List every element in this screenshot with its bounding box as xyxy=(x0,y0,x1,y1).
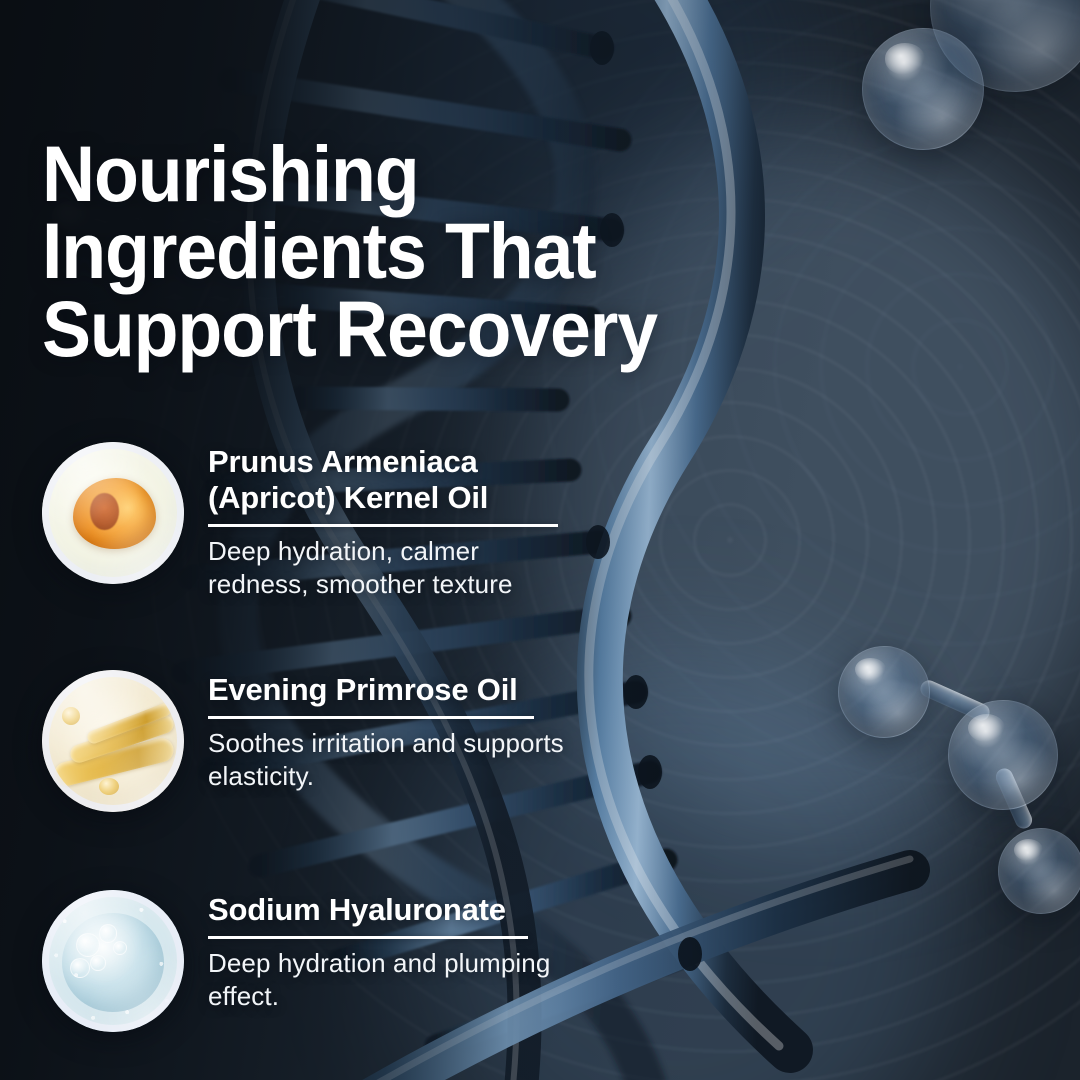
ingredient-copy: Evening Primrose Oil Soothes irritation … xyxy=(208,670,568,793)
ingredient-description: Deep hydration, calmer redness, smoother… xyxy=(208,535,568,602)
divider-rule xyxy=(208,716,534,719)
ingredient-name: Prunus Armeniaca (Apricot) Kernel Oil xyxy=(208,444,568,516)
ingredient-copy: Sodium Hyaluronate Deep hydration and pl… xyxy=(208,890,568,1013)
blue-gel-bubbles-icon xyxy=(42,890,184,1032)
ingredient-list: Prunus Armeniaca (Apricot) Kernel Oil De… xyxy=(0,0,1080,1080)
golden-oil-swirl-icon xyxy=(42,670,184,812)
divider-rule xyxy=(208,524,558,527)
list-item: Evening Primrose Oil Soothes irritation … xyxy=(42,670,568,812)
oil-droplet-shape xyxy=(62,707,80,725)
apricot-pit-shape xyxy=(90,493,118,530)
gel-speckle-texture xyxy=(42,890,184,1032)
list-item: Prunus Armeniaca (Apricot) Kernel Oil De… xyxy=(42,442,568,601)
ingredient-description: Soothes irritation and supports elastici… xyxy=(208,727,568,794)
ingredients-infographic: Nourishing Ingredients That Support Reco… xyxy=(0,0,1080,1080)
ingredient-name: Evening Primrose Oil xyxy=(208,672,568,708)
ingredient-description: Deep hydration and plumping effect. xyxy=(208,947,568,1014)
list-item: Sodium Hyaluronate Deep hydration and pl… xyxy=(42,890,568,1032)
divider-rule xyxy=(208,936,528,939)
apricot-in-gel-icon xyxy=(42,442,184,584)
ingredient-name: Sodium Hyaluronate xyxy=(208,892,568,928)
ingredient-copy: Prunus Armeniaca (Apricot) Kernel Oil De… xyxy=(208,442,568,601)
oil-droplet-shape xyxy=(99,778,119,795)
